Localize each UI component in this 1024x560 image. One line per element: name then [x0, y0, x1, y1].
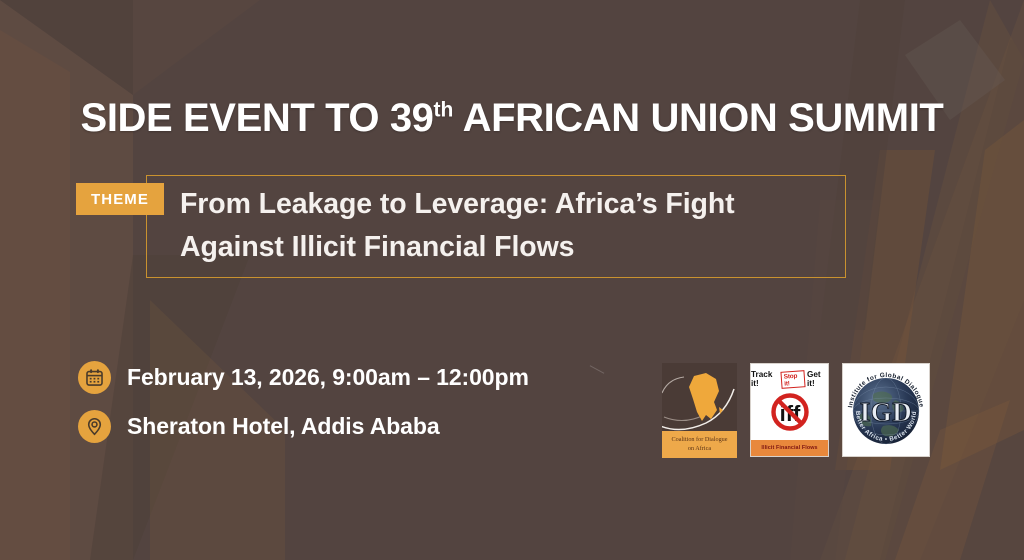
- theme-line-2: Against Illicit Financial Flows: [180, 226, 840, 269]
- logo-coalition-for-dialogue-on-africa: Coalition for Dialogue on Africa: [662, 363, 737, 458]
- title-prefix: SIDE EVENT TO 39: [81, 96, 434, 140]
- partner-logos: Coalition for Dialogue on Africa Track i…: [662, 363, 930, 458]
- event-location-text: Sheraton Hotel, Addis Ababa: [127, 413, 440, 440]
- event-date-row: February 13, 2026, 9:00am – 12:00pm: [78, 361, 529, 394]
- background-pattern: [0, 0, 1024, 560]
- page-title: SIDE EVENT TO 39th AFRICAN UNION SUMMIT: [0, 96, 1024, 141]
- event-location-row: Sheraton Hotel, Addis Ababa: [78, 410, 440, 443]
- location-pin-icon: [78, 410, 111, 443]
- logo-coda-line-2: on Africa: [688, 445, 711, 454]
- title-ordinal-suffix: th: [434, 99, 454, 122]
- theme-text: From Leakage to Leverage: Africa’s Fight…: [180, 183, 840, 269]
- logo-track-word-track: Track it!: [751, 370, 779, 388]
- svg-text:IGD: IGD: [860, 397, 913, 427]
- logo-track-band: Illicit Financial Flows: [751, 440, 828, 456]
- logo-track-headline: Track it! Stop it! Get it!: [751, 370, 828, 388]
- title-suffix: AFRICAN UNION SUMMIT: [453, 96, 943, 140]
- logo-institute-for-global-dialogue: IGD Institute for Global Dialogue Better…: [842, 363, 930, 457]
- event-banner: SIDE EVENT TO 39th AFRICAN UNION SUMMIT …: [0, 0, 1024, 560]
- logo-track-word-get: Get it!: [807, 370, 828, 388]
- logo-coda-caption: Coalition for Dialogue on Africa: [662, 431, 737, 458]
- logo-track-it-stop-it-get-it: Track it! Stop it! Get it! iff Illicit F…: [750, 363, 829, 457]
- theme-block: THEME From Leakage to Leverage: Africa’s…: [76, 175, 846, 278]
- logo-coda-line-1: Coalition for Dialogue: [671, 436, 727, 445]
- calendar-icon: [78, 361, 111, 394]
- theme-badge: THEME: [76, 183, 164, 215]
- theme-line-1: From Leakage to Leverage: Africa’s Fight: [180, 183, 840, 226]
- logo-track-prohibition-sign: iff: [763, 392, 817, 432]
- logo-track-word-stop: Stop it!: [780, 370, 805, 389]
- event-date-text: February 13, 2026, 9:00am – 12:00pm: [127, 364, 529, 391]
